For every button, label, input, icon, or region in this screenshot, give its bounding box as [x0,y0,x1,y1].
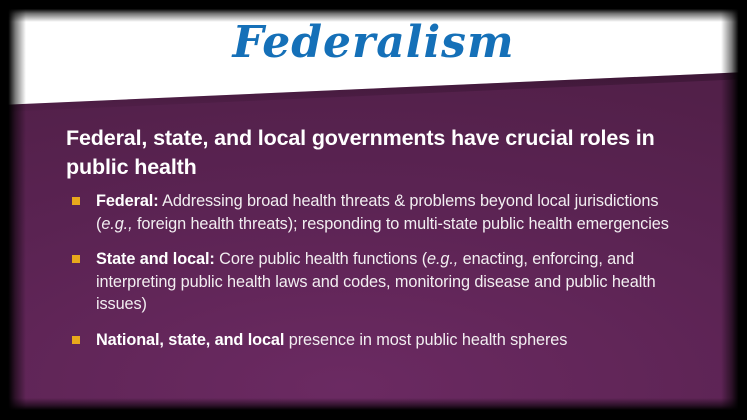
bullet-text-before-italic: Core public health functions ( [215,250,427,268]
bullet-text-before-italic: presence in most public health spheres [284,331,567,349]
bullet-lead-in: State and local: [96,250,215,268]
bullet-list: Federal: Addressing broad health threats… [66,190,680,351]
square-bullet-icon [72,336,80,344]
slide-title: Federalism [0,17,747,69]
content-heading: Federal, state, and local governments ha… [66,124,666,181]
bullet-text-after-italic: foreign health threats); responding to m… [133,215,669,233]
bullet-lead-in: National, state, and local [96,331,284,349]
bullet-lead-in: Federal: [96,192,159,210]
presentation-slide: Federalism Federal, state, and local gov… [0,0,747,420]
slide-content: Federal, state, and local governments ha… [66,124,680,351]
bullet-italic-eg: e.g., [101,215,132,233]
square-bullet-icon [72,197,80,205]
square-bullet-icon [72,255,80,263]
list-item: State and local: Core public health func… [66,248,680,316]
list-item: Federal: Addressing broad health threats… [66,190,680,235]
list-item: National, state, and local presence in m… [66,329,680,352]
bullet-italic-eg: e.g., [427,250,458,268]
